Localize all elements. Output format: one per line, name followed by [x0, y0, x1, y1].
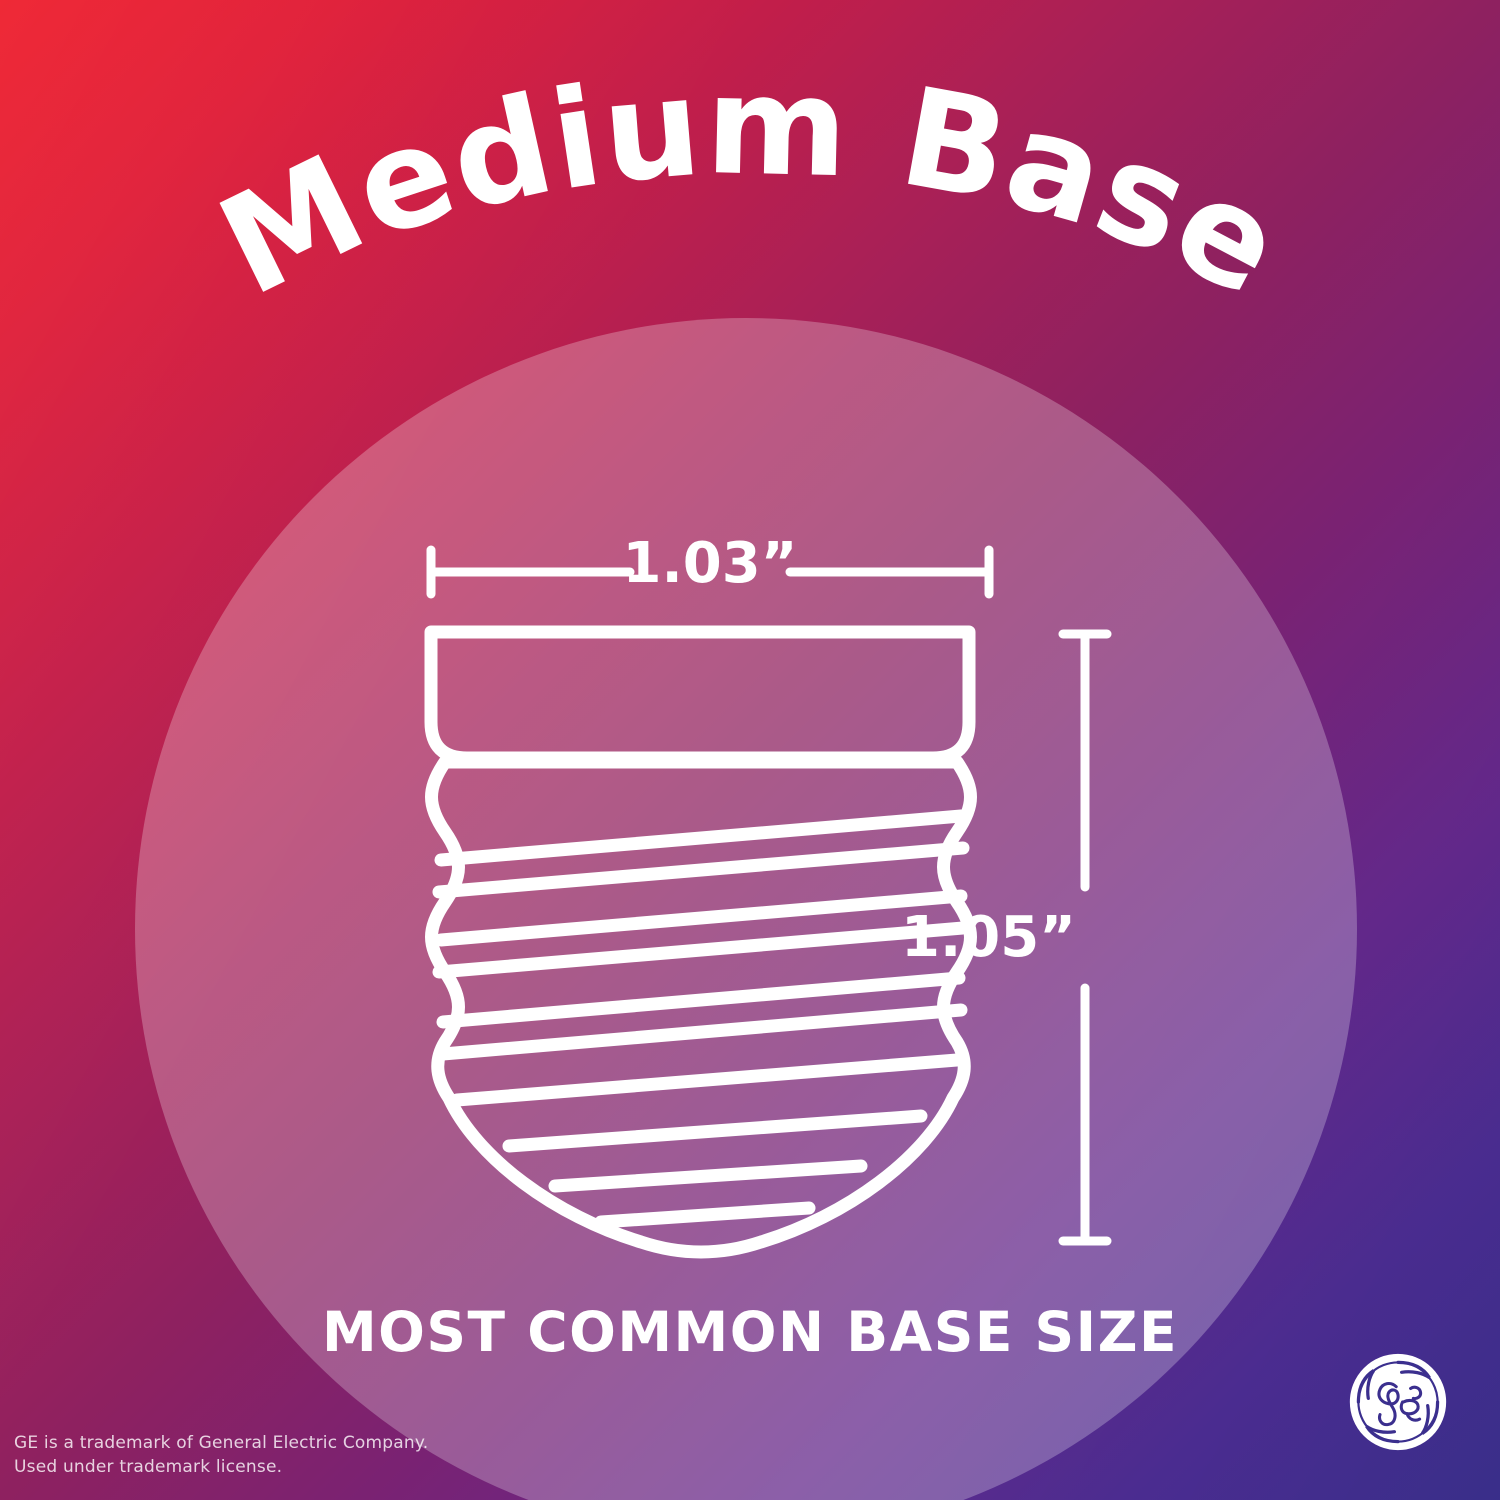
base-collar — [431, 632, 969, 758]
thread-line-10 — [601, 1208, 809, 1222]
height-dimension: 1.05” — [1000, 625, 1180, 1250]
legal-line-2: Used under trademark license. — [14, 1455, 428, 1480]
width-dimension: 1.03” — [425, 528, 995, 620]
product-infographic: Medium Base 1.03” 1.05” — [0, 0, 1500, 1500]
screw-base-diagram — [405, 610, 1020, 1270]
thread-line-7 — [457, 1060, 957, 1100]
caption-text: MOST COMMON BASE SIZE — [0, 1300, 1500, 1364]
thread-line-8 — [509, 1116, 921, 1146]
width-dimension-label: 1.03” — [607, 536, 814, 592]
legal-footer: GE is a trademark of General Electric Co… — [14, 1431, 428, 1480]
legal-line-1: GE is a trademark of General Electric Co… — [14, 1431, 428, 1456]
thread-line-9 — [555, 1166, 861, 1186]
ge-monogram-logo — [1344, 1348, 1452, 1456]
